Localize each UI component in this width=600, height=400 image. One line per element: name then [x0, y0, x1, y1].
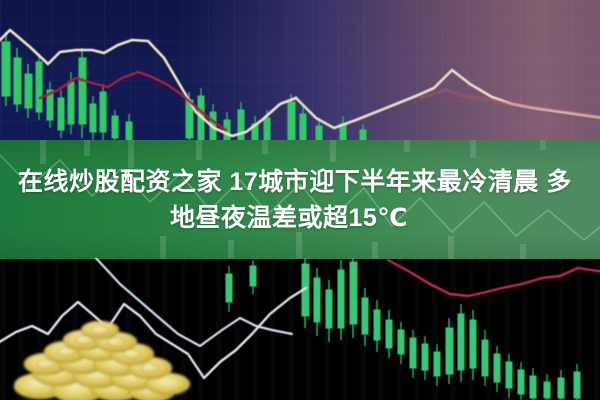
green-title-band: 在线炒股配资之家 17城市迎下半年来最冷清晨 多 地昼夜温差或超15℃	[0, 140, 600, 259]
bottom-chart-candles	[0, 258, 600, 400]
headline-line-1: 在线炒股配资之家 17城市迎下半年来最冷清晨 多	[18, 164, 586, 200]
top-cream-trend-line-right	[296, 70, 600, 128]
news-thumbnail-image: 在线炒股配资之家 17城市迎下半年来最冷清晨 多 地昼夜温差或超15℃	[0, 0, 600, 400]
top-chart-candles	[0, 0, 600, 141]
top-cream-trend-line	[0, 30, 296, 136]
bottom-red-trend-line	[388, 260, 600, 296]
gold-coins-pile	[14, 321, 190, 400]
headline-line-2: 地昼夜温差或超15℃	[18, 200, 586, 236]
bottom-chart-panel	[0, 258, 600, 400]
headline-block: 在线炒股配资之家 17城市迎下半年来最冷清晨 多 地昼夜温差或超15℃	[0, 140, 600, 236]
top-chart-panel	[0, 0, 600, 141]
